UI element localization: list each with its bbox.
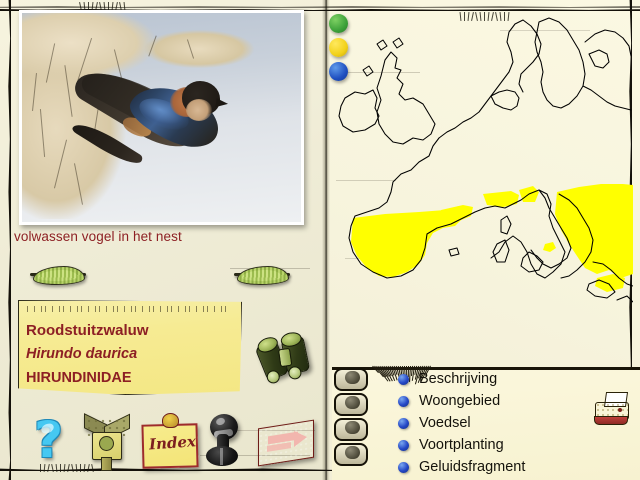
red-rumped-swallow xyxy=(74,75,234,200)
bird-photo xyxy=(22,13,301,222)
menu-item-geluidsfragment[interactable]: Geluidsfragment xyxy=(398,456,578,478)
bird-beak xyxy=(215,98,228,109)
birdhouse-hole xyxy=(99,436,114,451)
legend-dot-yellow[interactable] xyxy=(329,38,348,57)
distribution-greece-isles xyxy=(595,274,625,292)
birdhouse-post xyxy=(101,457,112,471)
bullet-icon xyxy=(398,374,409,385)
bullet-icon xyxy=(398,462,409,473)
distribution-map[interactable] xyxy=(333,12,633,367)
legend-dot-green[interactable] xyxy=(329,14,348,33)
feather-icon-left xyxy=(28,266,88,284)
help-button[interactable]: ? xyxy=(30,416,70,468)
printer-button-led xyxy=(618,408,622,412)
notepad-perforation xyxy=(27,306,227,318)
menu-item-label: Voedsel xyxy=(419,415,471,431)
species-family-name: HIRUNDINIDAE xyxy=(26,370,132,386)
menu-item-woongebied[interactable]: Woongebied xyxy=(398,390,578,412)
menu-item-voedsel[interactable]: Voedsel xyxy=(398,412,578,434)
feather-icon-right xyxy=(232,266,292,284)
application-window: volwassen vogel in het nest Roodstuitzwa… xyxy=(0,0,640,480)
species-common-name: Roodstuitzwaluw xyxy=(26,322,149,339)
microphone-slit xyxy=(220,448,223,465)
home-button[interactable] xyxy=(82,414,130,468)
map-legend xyxy=(329,14,355,84)
index-button[interactable]: Index xyxy=(140,412,196,468)
legend-dot-blue[interactable] xyxy=(329,62,348,81)
menu-item-beschrijving[interactable]: Beschrijving xyxy=(398,368,578,390)
exit-button[interactable] xyxy=(258,420,316,466)
menu-item-label: Voortplanting xyxy=(419,437,504,453)
bullet-icon xyxy=(398,440,409,451)
menu-item-label: Woongebied xyxy=(419,393,500,409)
bullet-icon xyxy=(398,396,409,407)
europe-map-svg xyxy=(333,12,633,367)
notebook-spiral-binding xyxy=(332,362,368,480)
print-button[interactable] xyxy=(592,392,634,428)
index-pin xyxy=(162,413,179,428)
menu-item-label: Beschrijving xyxy=(419,371,497,387)
distribution-med-strip xyxy=(483,191,519,207)
photo-caption: volwassen vogel in het nest xyxy=(14,229,182,244)
binoculars-icon xyxy=(255,328,323,384)
species-latin-name: Hirundo daurica xyxy=(26,346,137,362)
exit-arrow-head xyxy=(294,429,307,447)
sound-button[interactable] xyxy=(202,414,242,468)
bird-photo-frame xyxy=(19,10,304,225)
section-menu-list: Beschrijving Woongebied Voedsel Voortpla… xyxy=(398,368,578,478)
menu-item-voortplanting[interactable]: Voortplanting xyxy=(398,434,578,456)
bullet-icon xyxy=(398,418,409,429)
printer-output-tray xyxy=(594,416,628,425)
bird-throat xyxy=(186,99,212,121)
index-label: Index xyxy=(148,432,193,453)
menu-item-label: Geluidsfragment xyxy=(419,459,525,475)
